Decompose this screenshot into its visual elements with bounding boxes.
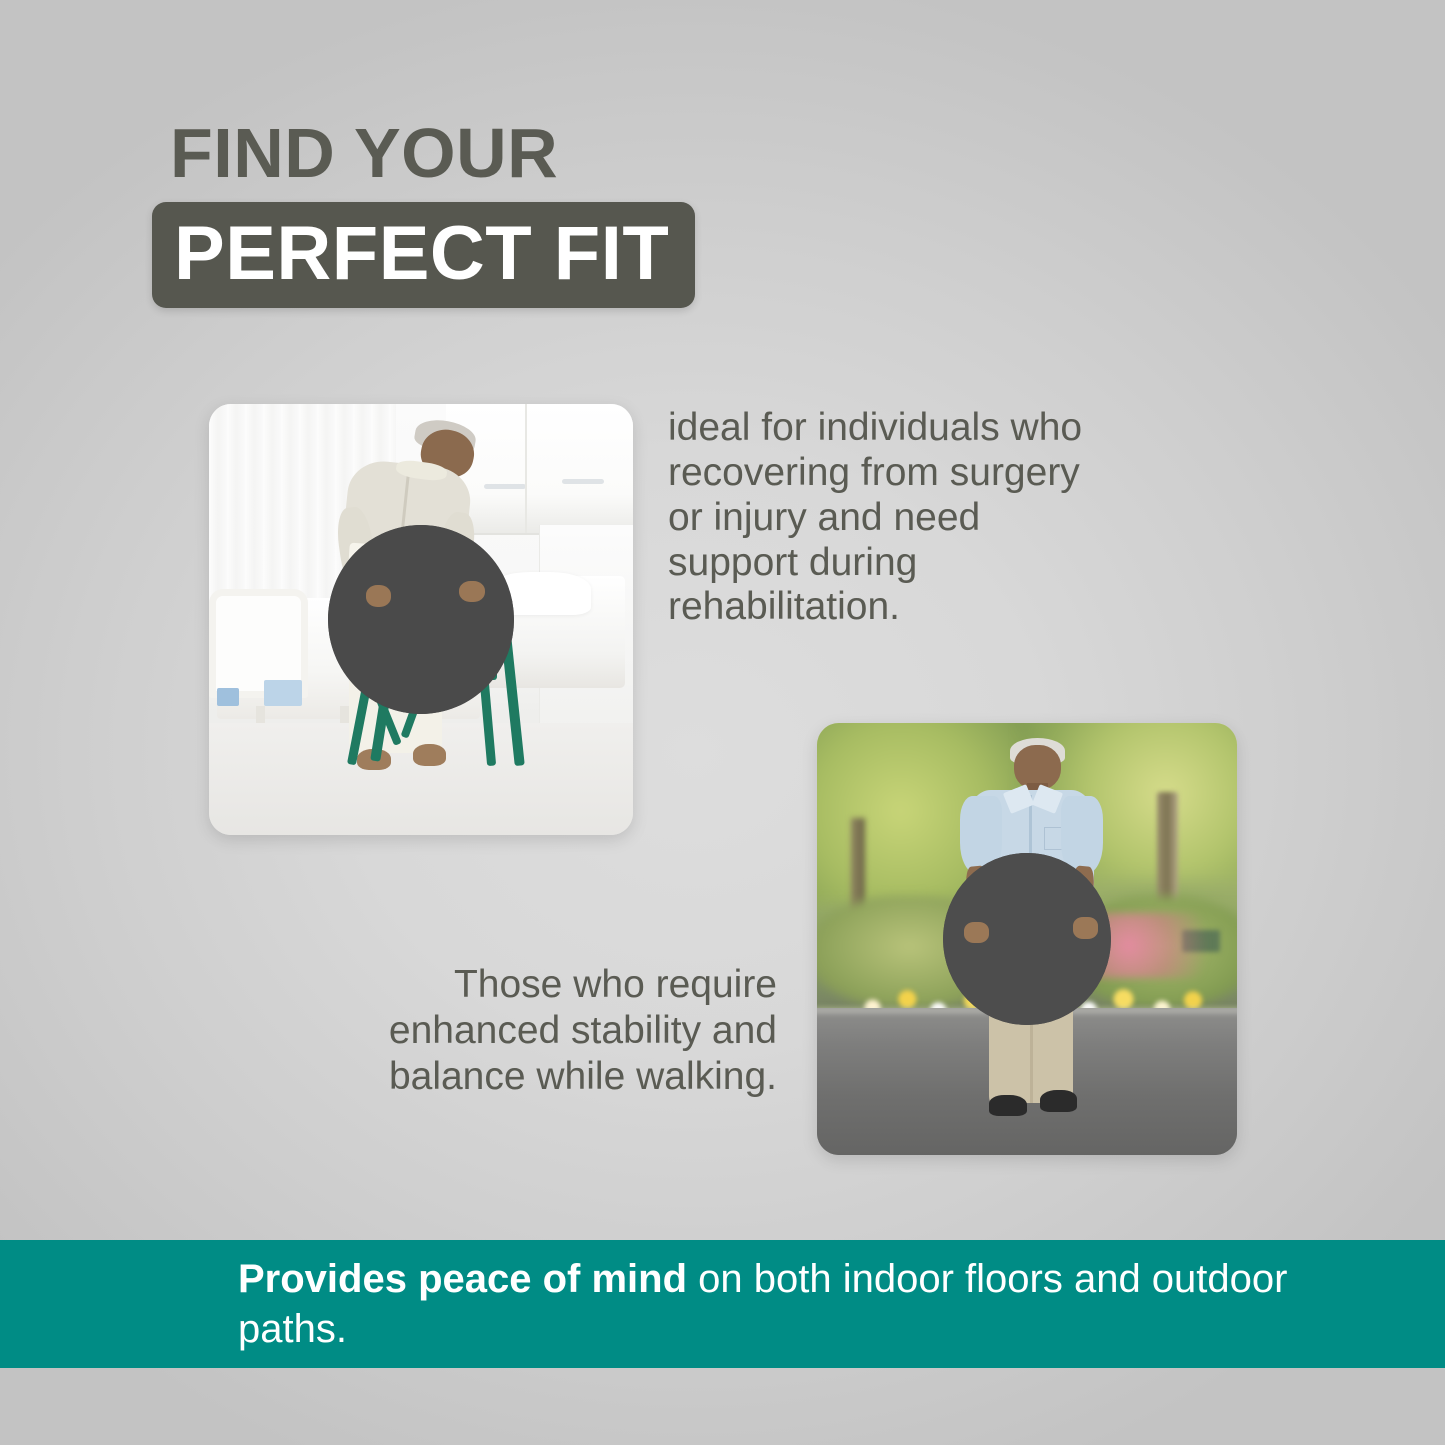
headline-line-2: PERFECT FIT bbox=[174, 216, 669, 292]
infographic-canvas: FIND YOUR PERFECT FIT bbox=[0, 0, 1445, 1445]
cabinet-handle-icon bbox=[484, 484, 526, 489]
footer-banner: Provides peace of mind on both indoor fl… bbox=[0, 1240, 1445, 1368]
cabinet-handle-icon bbox=[562, 479, 604, 484]
walker-user-right-hand bbox=[1073, 917, 1098, 939]
photo-card-indoor-rehab bbox=[209, 404, 633, 835]
caption-indoor-rehab: ideal for individuals who recovering fro… bbox=[668, 406, 1098, 630]
patient-left-hand bbox=[366, 585, 391, 607]
indoor-rehab-illustration bbox=[209, 404, 633, 835]
walker-user-shoe bbox=[989, 1095, 1027, 1117]
walker-user-left-hand bbox=[964, 922, 989, 944]
outdoor-walking-illustration bbox=[817, 723, 1237, 1155]
footer-strong-text: Provides peace of mind bbox=[238, 1257, 687, 1301]
wall-cabinet bbox=[446, 404, 633, 535]
headline-badge: PERFECT FIT bbox=[152, 202, 695, 308]
headline-block: FIND YOUR PERFECT FIT bbox=[152, 118, 852, 308]
caption-outdoor-walking: Those who require enhanced stability and… bbox=[325, 962, 777, 1100]
headline-line-1: FIND YOUR bbox=[152, 118, 852, 188]
patient-foot bbox=[413, 744, 447, 766]
bed-side-fitting bbox=[264, 680, 302, 706]
footer-banner-text: Provides peace of mind on both indoor fl… bbox=[0, 1254, 1445, 1354]
bed-side-fitting bbox=[217, 688, 238, 705]
walker-user-shoe bbox=[1040, 1090, 1078, 1112]
patient-right-hand bbox=[459, 581, 484, 603]
photo-card-outdoor-walking bbox=[817, 723, 1237, 1155]
